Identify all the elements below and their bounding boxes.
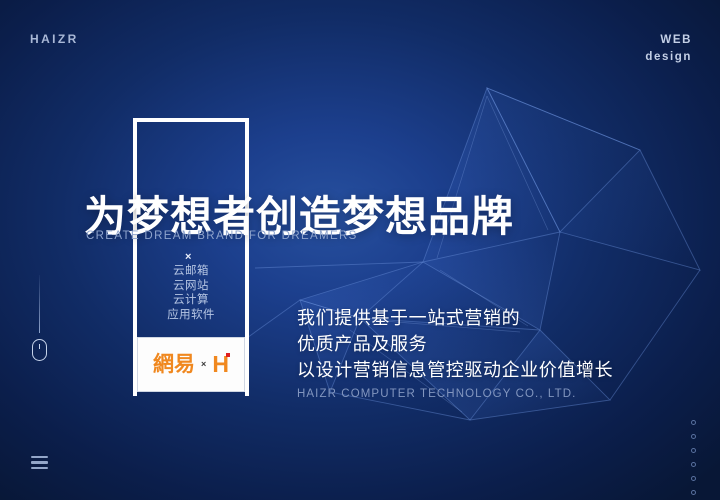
hamburger-bar <box>31 456 48 458</box>
description-block: 我们提供基于一站式营销的 优质产品及服务 以设计营销信息管控驱动企业价值增长 H… <box>297 305 613 400</box>
logo-cross-separator: × <box>201 360 206 369</box>
description-line-3: 以设计营销信息管控驱动企业价值增长 <box>297 357 613 383</box>
pagination-dot[interactable] <box>691 420 696 425</box>
service-menu-item-cloud-computing[interactable]: 云计算 <box>133 293 249 308</box>
tagline-line-design: design <box>645 49 692 66</box>
tagline-line-web: WEB <box>645 32 692 49</box>
description-line-2: 优质产品及服务 <box>297 331 613 357</box>
hamburger-menu-icon[interactable] <box>31 456 48 469</box>
hamburger-bar <box>31 461 48 463</box>
pagination-dot[interactable] <box>691 434 696 439</box>
header-tagline: WEB design <box>645 32 692 65</box>
slide-pagination-dots[interactable] <box>691 420 696 495</box>
brand-logo-text[interactable]: HAIZR <box>30 32 79 46</box>
page-subtitle: CREATE DREAM BRAND FOR DREAMERS <box>86 230 358 242</box>
netease-wordmark: 網易 <box>153 354 195 375</box>
hamburger-bar <box>31 467 48 469</box>
cross-separator-mark: × <box>185 252 191 263</box>
haizr-red-dot-icon <box>226 353 230 357</box>
slide-canvas: HAIZR WEB design 为梦想者创造梦想品牌 CREATE DREAM… <box>0 0 720 500</box>
mouse-scroll-icon[interactable] <box>32 339 47 361</box>
pagination-dot[interactable] <box>691 462 696 467</box>
polygon-background-decoration <box>0 0 720 500</box>
service-menu-list: 云邮箱 云网站 云计算 应用软件 <box>133 264 249 322</box>
pagination-dot[interactable] <box>691 448 696 453</box>
service-menu-item-applications[interactable]: 应用软件 <box>133 308 249 323</box>
pagination-dot[interactable] <box>691 490 696 495</box>
scroll-rail-line <box>39 275 40 333</box>
service-menu-item-cloud-mail[interactable]: 云邮箱 <box>133 264 249 279</box>
description-line-1: 我们提供基于一站式营销的 <box>297 305 613 331</box>
pagination-dot[interactable] <box>691 476 696 481</box>
partner-logo-card[interactable]: 網易 × H <box>137 337 245 392</box>
haizr-h-mark: H <box>212 353 229 376</box>
service-menu-item-cloud-website[interactable]: 云网站 <box>133 279 249 294</box>
company-english-name: HAIZR COMPUTER TECHNOLOGY CO., LTD. <box>297 388 613 400</box>
